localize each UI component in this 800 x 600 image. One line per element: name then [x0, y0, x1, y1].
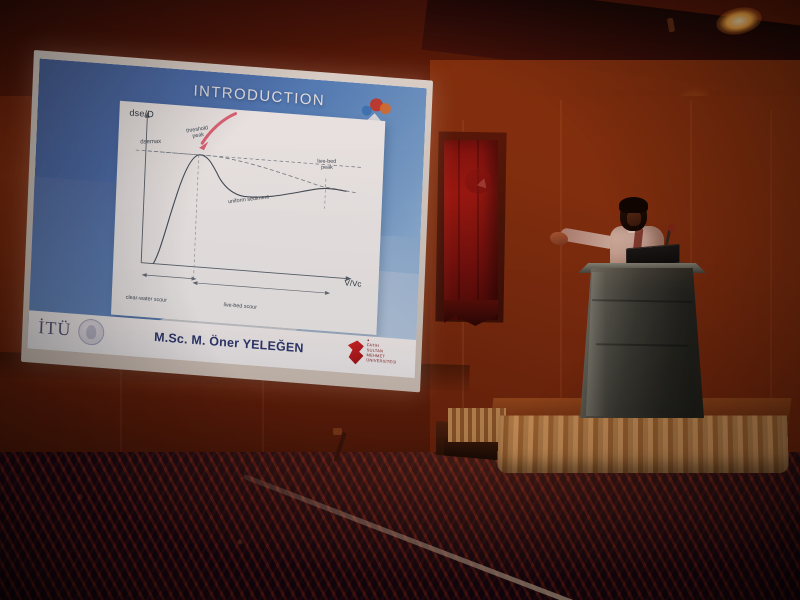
conference-room-photo: INTRODUCTION	[0, 0, 800, 600]
speaker-hair	[619, 197, 648, 213]
stage-skirt	[497, 415, 789, 473]
itu-logo-text: İTÜ	[38, 317, 72, 341]
wall-panel-seam	[560, 100, 562, 420]
turkish-flag	[444, 140, 498, 320]
live-bed-peak-line1: live-bed	[317, 159, 336, 165]
scour-depth-chart: dse/D dsemax threshold peak live-bed pea…	[111, 101, 385, 335]
x-axis-label: V/Vc	[344, 278, 361, 288]
live-bed-peak-line2: peak	[321, 165, 333, 171]
speaker-face	[627, 211, 641, 226]
fatih-sultan-mehmet-logo: ● FATİH SULTAN MEHMET ÜNİVERSİTESİ	[345, 337, 402, 371]
presentation-slide: INTRODUCTION	[28, 58, 427, 378]
projection-screen: INTRODUCTION	[21, 50, 433, 392]
wall-socket	[333, 428, 342, 435]
wall-panel-seam	[770, 110, 772, 440]
tulip-flame-icon	[347, 340, 364, 365]
fsm-line4: ÜNİVERSİTESİ	[366, 357, 396, 364]
fsm-logo-text: FATİH SULTAN MEHMET ÜNİVERSİTESİ	[366, 342, 397, 364]
live-bed-peak-label: live-bed peak	[317, 159, 336, 172]
microphone-head-icon	[668, 224, 675, 232]
y-axis-label: dse/D	[129, 107, 154, 119]
carpet-lighting	[0, 452, 800, 600]
dsemax-label: dsemax	[140, 139, 161, 146]
